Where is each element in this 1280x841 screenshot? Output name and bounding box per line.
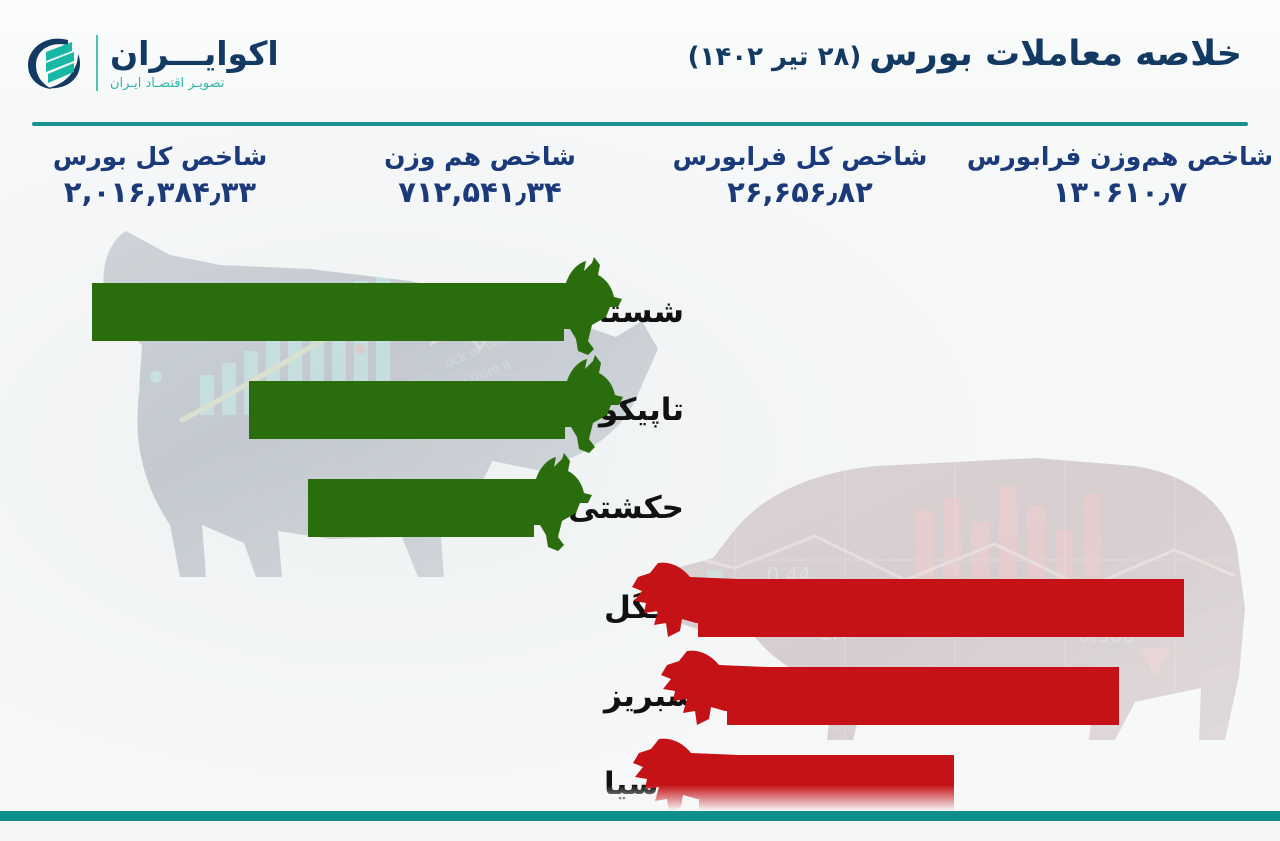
chart-row-tapico: تاپیکو	[249, 367, 700, 453]
bull-icon	[515, 353, 635, 467]
index-stat-kol-bourse: شاخص کل بورس ۲,۰۱۶,۳۸۴٫۳۳	[0, 143, 320, 243]
page-title-date: (۲۸ تیر ۱۴۰۲)	[688, 42, 862, 72]
index-value: ۷۱۲,۵۴۱٫۳۴	[398, 176, 561, 209]
bar-fill	[727, 667, 1119, 725]
bar-shasta[interactable]	[92, 283, 598, 341]
bar-kagol[interactable]	[668, 579, 1184, 637]
index-stat-hamvazn: شاخص هم وزن ۷۱۲,۵۴۱٫۳۴	[320, 143, 640, 243]
index-label: شاخص هم‌وزن فرابورس	[967, 143, 1273, 172]
bar-shabriz[interactable]	[697, 667, 1119, 725]
brand-logo[interactable]: اکوایـــران تصویـر اقتصـاد ایـران	[22, 24, 279, 102]
page-title-text: خلاصه معاملات بورس	[869, 34, 1242, 74]
index-label: شاخص هم وزن	[384, 143, 576, 172]
impact-bar-chart: شستا تاپیکو حک	[0, 255, 1280, 800]
bar-fill	[698, 579, 1184, 637]
header-divider	[32, 122, 1248, 126]
index-label: شاخص کل فرابورس	[673, 143, 928, 172]
logo-divider	[96, 35, 98, 91]
index-stat-hamvazn-farabourse: شاخص هم‌وزن فرابورس ۱۳۰۶۱۰٫۷	[960, 143, 1280, 243]
footer-bar	[0, 811, 1280, 821]
logo-name: اکوایـــران	[110, 37, 279, 70]
index-label: شاخص کل بورس	[53, 143, 267, 172]
bear-icon	[625, 727, 745, 841]
chart-row-hakeshti: حکشتی	[308, 465, 700, 551]
chart-row-shasta: شستا	[92, 269, 700, 355]
page-header: اکوایـــران تصویـر اقتصـاد ایـران خلاصه …	[0, 0, 1280, 125]
index-stat-kol-farabourse: شاخص کل فرابورس ۲۶,۶۵۶٫۸۲	[640, 143, 960, 243]
bar-hakeshti[interactable]	[308, 479, 569, 537]
index-stats-row: شاخص هم‌وزن فرابورس ۱۳۰۶۱۰٫۷ شاخص کل فرا…	[0, 143, 1280, 243]
logo-tagline: تصویـر اقتصـاد ایـران	[110, 77, 224, 90]
index-value: ۲۶,۶۵۶٫۸۲	[727, 176, 873, 209]
bull-icon	[484, 451, 604, 565]
infographic-canvas: markets mea e transfer oney of a ock or …	[0, 0, 1280, 821]
bar-fill	[92, 283, 564, 341]
page-title: خلاصه معاملات بورس (۲۸ تیر ۱۴۰۲)	[688, 34, 1242, 74]
index-value: ۲,۰۱۶,۳۸۴٫۳۳	[64, 176, 256, 209]
ecoiran-swoosh-logo-icon	[22, 32, 84, 94]
logo-wordmark: اکوایـــران تصویـر اقتصـاد ایـران	[110, 37, 279, 90]
bar-tapico[interactable]	[249, 381, 599, 439]
bull-icon	[514, 255, 634, 369]
footer-fade	[0, 785, 1280, 811]
index-value: ۱۳۰۶۱۰٫۷	[1053, 176, 1188, 209]
